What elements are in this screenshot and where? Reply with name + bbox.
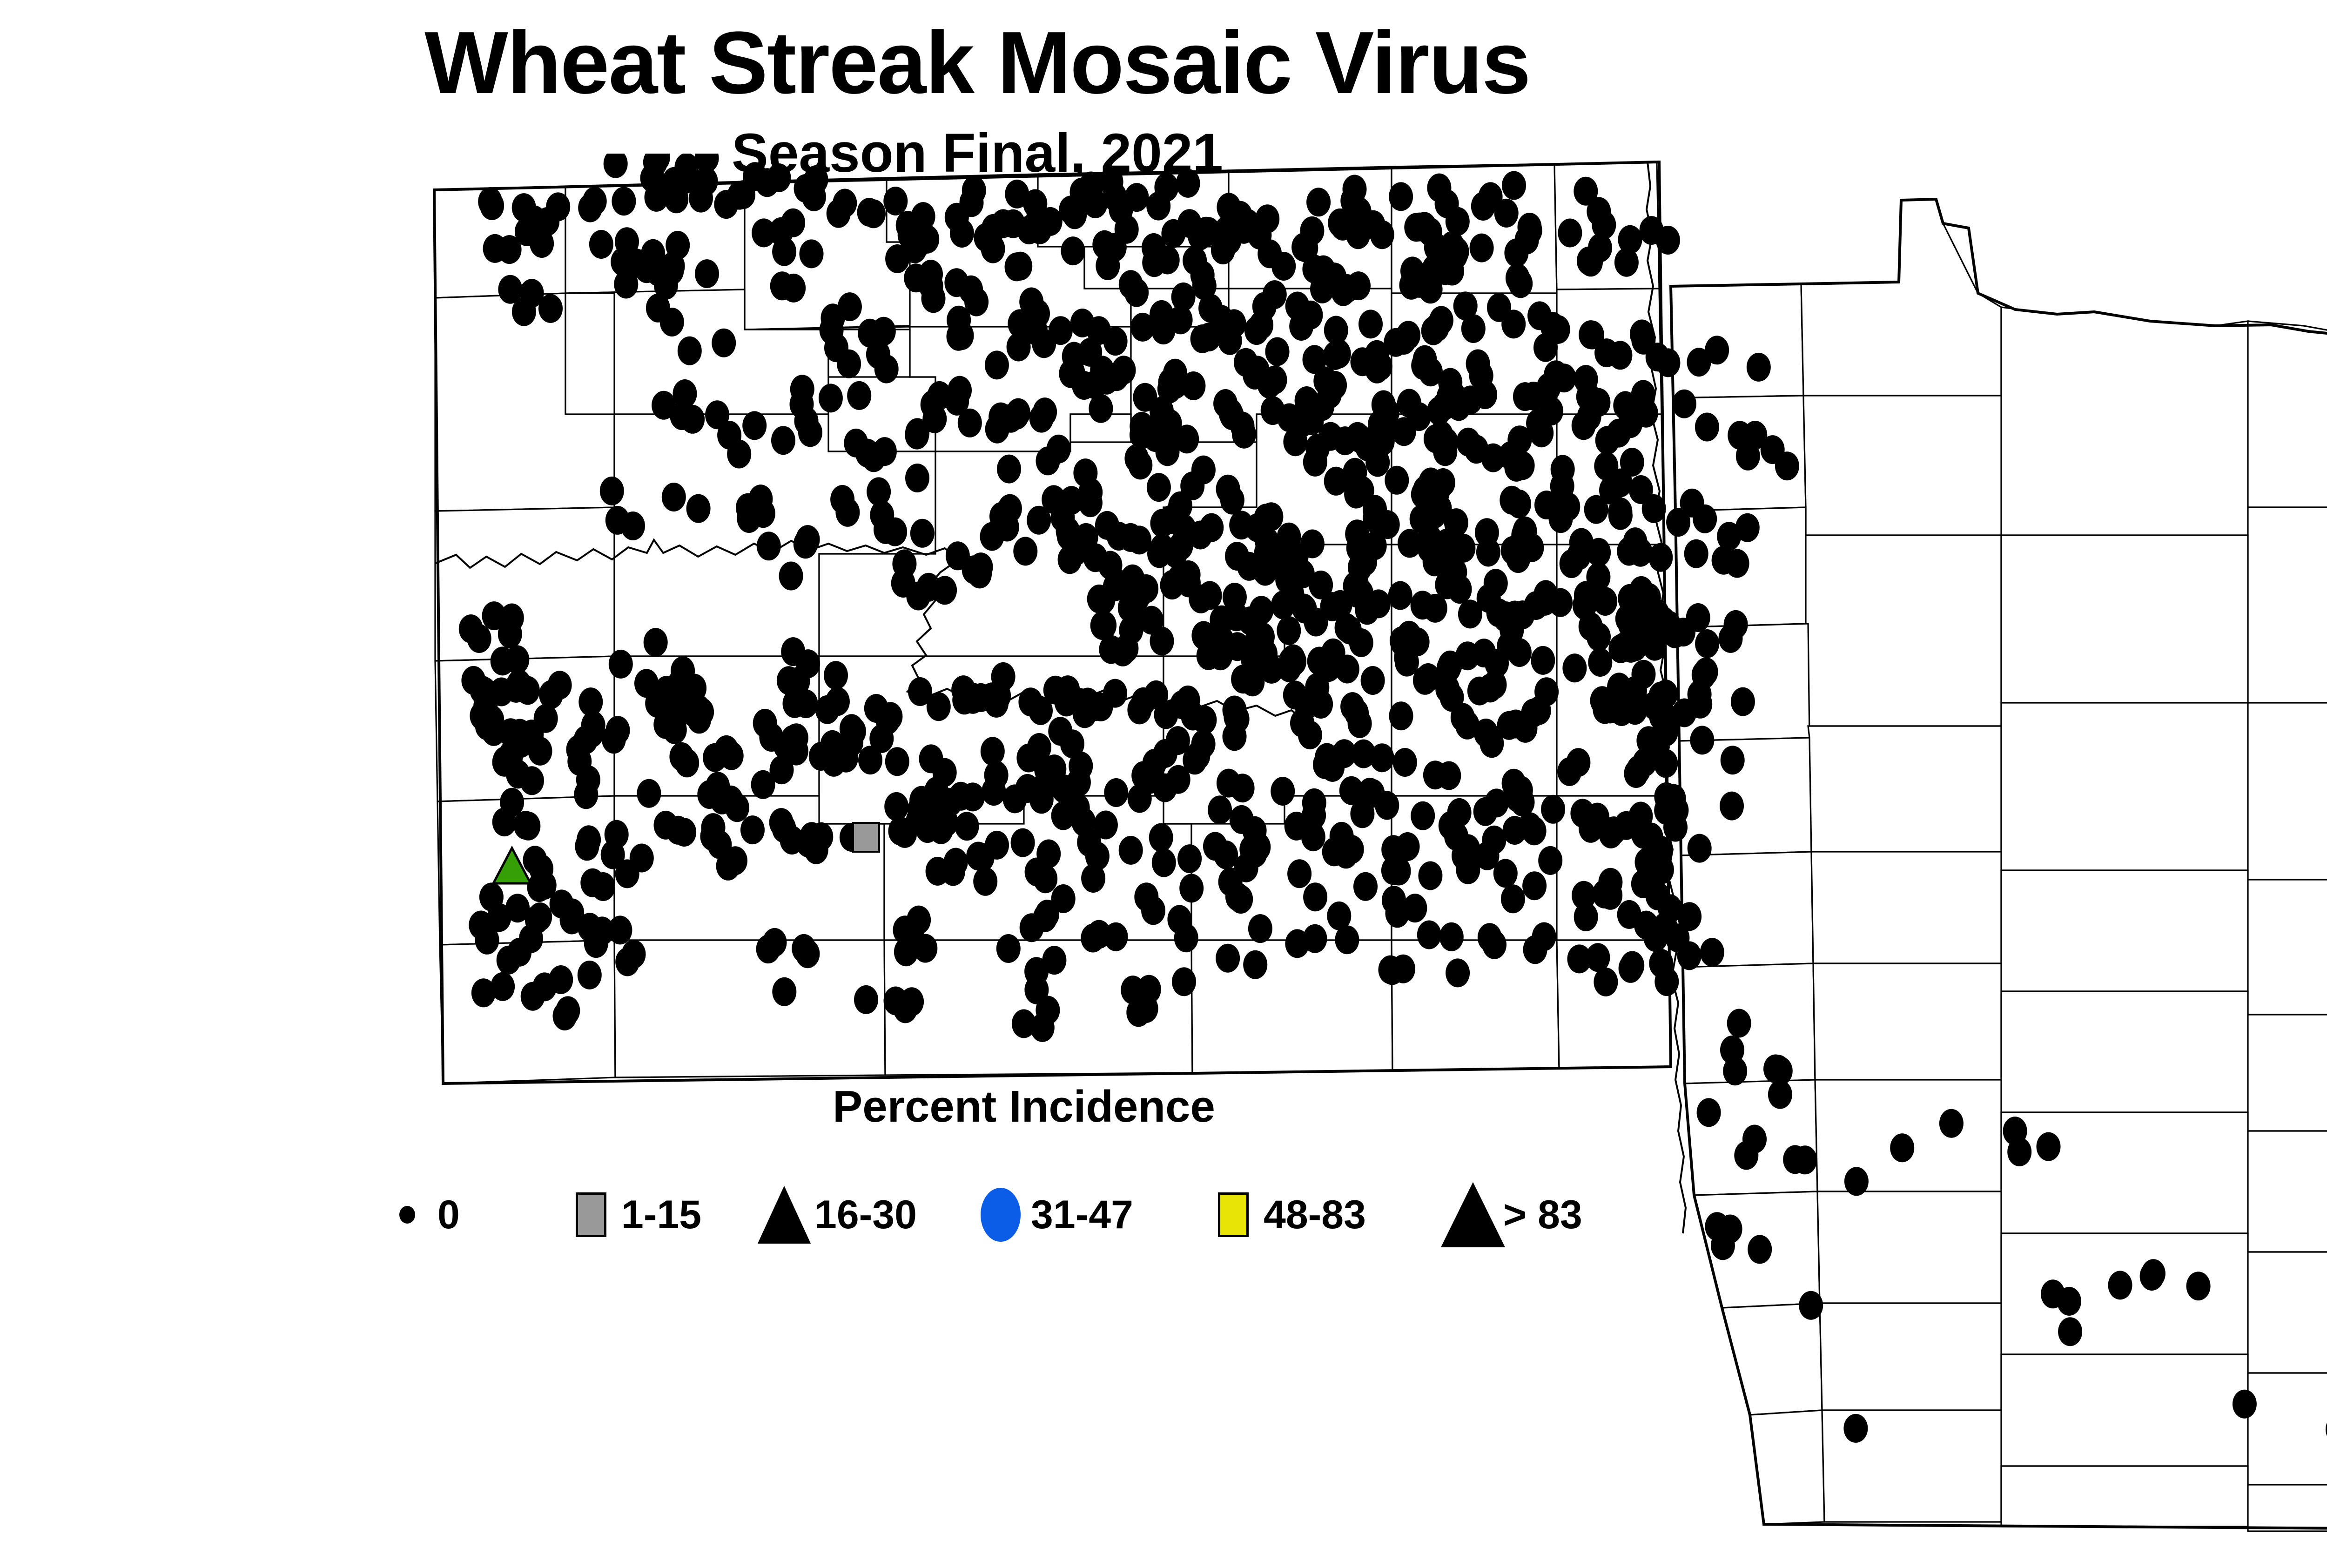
sample-point <box>1720 1036 1744 1064</box>
sample-point <box>523 846 547 875</box>
legend-symbol-square-icon <box>1208 1178 1259 1252</box>
sample-point <box>1427 174 1451 202</box>
sample-point <box>1705 336 1729 364</box>
sample-point <box>1370 743 1394 772</box>
point-gray-square <box>853 823 879 852</box>
sample-point <box>1592 880 1616 908</box>
sample-point <box>666 231 690 260</box>
sample-point <box>549 965 573 994</box>
sample-point <box>847 381 871 410</box>
sample-point <box>1156 437 1180 466</box>
sample-point <box>2186 1272 2211 1300</box>
sample-point <box>933 576 957 605</box>
sample-point <box>580 868 605 897</box>
sample-point <box>1574 581 1598 610</box>
sample-point <box>1487 293 1511 322</box>
legend-swatch <box>399 1206 415 1224</box>
sample-point <box>1389 182 1413 211</box>
sample-point <box>1624 759 1648 788</box>
sample-point <box>1480 729 1504 758</box>
sample-point <box>830 485 854 514</box>
sample-point <box>1351 347 1375 376</box>
sample-point <box>1539 397 1563 425</box>
legend-item--83[interactable]: > 83 <box>1447 1168 1582 1261</box>
sample-point <box>1208 795 1232 824</box>
sample-point <box>1608 341 1632 370</box>
sample-point <box>752 218 776 247</box>
sample-point <box>1259 655 1284 684</box>
sample-point <box>1081 924 1105 953</box>
sample-point <box>1197 323 1221 351</box>
sample-point <box>487 903 511 932</box>
sample-point <box>962 176 986 205</box>
sample-point <box>892 549 916 578</box>
sample-point <box>804 835 828 864</box>
sample-point <box>783 689 807 718</box>
sample-point <box>1686 603 1710 632</box>
sample-point <box>858 746 882 774</box>
sample-point <box>1361 666 1385 695</box>
sample-point <box>578 961 602 989</box>
sample-point <box>838 292 862 321</box>
sample-point <box>1458 599 1482 628</box>
sample-point <box>1731 687 1755 716</box>
sample-point <box>1345 519 1369 548</box>
sample-point <box>1094 811 1118 840</box>
sample-point <box>584 929 608 958</box>
sample-point <box>1188 222 1212 250</box>
sample-point <box>1470 234 1494 262</box>
sample-point <box>1411 801 1435 830</box>
sample-point <box>1330 822 1354 851</box>
sample-point <box>520 766 544 795</box>
sample-point <box>1688 690 1712 719</box>
sample-point <box>794 530 818 559</box>
sample-point <box>905 464 929 492</box>
legend-symbol-square-icon <box>565 1178 617 1252</box>
sample-point <box>1620 951 1644 980</box>
legend-item-0[interactable]: 0 <box>382 1168 460 1261</box>
sample-point <box>516 812 540 841</box>
sample-point <box>1154 700 1178 729</box>
sample-point <box>927 692 951 721</box>
sample-point <box>2233 1390 2257 1419</box>
sample-point <box>1199 513 1224 542</box>
sample-point <box>1700 938 1724 967</box>
sample-point <box>883 187 908 215</box>
sample-point <box>1532 922 1556 951</box>
sample-point <box>1248 914 1272 943</box>
sample-point <box>1566 748 1590 777</box>
legend-label: > 83 <box>1503 1192 1582 1238</box>
sample-point <box>1183 746 1207 774</box>
sample-point <box>600 477 624 505</box>
sample-point <box>527 873 551 902</box>
sample-point <box>1172 514 1196 543</box>
sample-point <box>1372 390 1396 419</box>
sample-point <box>742 411 767 440</box>
sample-point <box>970 843 995 872</box>
sample-point <box>772 814 796 843</box>
sample-point <box>1478 923 1502 952</box>
sample-point <box>1243 950 1267 979</box>
sample-point <box>1618 584 1642 613</box>
sample-point <box>1593 695 1617 724</box>
sample-point <box>1500 616 1524 645</box>
sample-point <box>1657 611 1681 639</box>
sample-point <box>1521 699 1545 727</box>
sample-point <box>1149 823 1173 852</box>
sample-point <box>906 582 930 611</box>
sample-point <box>1586 943 1610 972</box>
sample-point <box>1161 219 1185 248</box>
sample-point <box>673 379 697 408</box>
legend-swatch <box>1218 1192 1249 1237</box>
sample-point <box>471 978 496 1007</box>
sample-point <box>781 209 805 237</box>
sample-point <box>1634 911 1658 940</box>
sample-point <box>1048 717 1072 746</box>
sample-point <box>1176 169 1200 198</box>
sample-point <box>1507 490 1531 518</box>
sample-point <box>630 844 654 873</box>
sample-point <box>1300 530 1325 559</box>
sample-point <box>1385 466 1409 495</box>
legend-item-31-47[interactable]: 31-47 <box>975 1168 1133 1261</box>
sample-point <box>1890 1133 1914 1162</box>
sample-point <box>1147 473 1171 502</box>
sample-point <box>1335 655 1359 684</box>
sample-point <box>1225 705 1250 734</box>
sample-point <box>1005 252 1029 281</box>
sample-point <box>1156 246 1180 275</box>
sample-point <box>1003 784 1027 813</box>
sample-point <box>1287 859 1311 888</box>
legend-items: 01-1516-3031-4748-83> 83 <box>0 1168 2048 1261</box>
sample-point <box>949 782 973 811</box>
sample-point <box>1618 225 1642 254</box>
sample-point <box>1328 209 1352 237</box>
county-map-svg <box>0 154 2327 1568</box>
legend-swatch <box>1442 1184 1504 1245</box>
sample-point <box>1475 841 1500 870</box>
sample-point <box>1630 320 1654 349</box>
sample-point <box>480 705 504 734</box>
sample-point <box>1680 489 1704 518</box>
sample-point <box>712 329 736 357</box>
sample-point <box>1323 341 1347 370</box>
sample-point <box>1283 680 1307 709</box>
sample-point <box>1023 189 1047 218</box>
sample-point <box>1231 774 1255 802</box>
sample-point <box>1169 305 1193 334</box>
sample-point <box>1124 579 1149 607</box>
sample-point <box>1277 616 1301 645</box>
sample-point <box>521 982 545 1011</box>
sample-point <box>1388 581 1412 610</box>
sample-point <box>1455 711 1480 740</box>
sample-point <box>1179 874 1204 902</box>
sample-point <box>1059 195 1083 224</box>
sample-point <box>1727 1009 1751 1038</box>
sample-point <box>952 686 976 714</box>
sample-point <box>1231 215 1256 244</box>
sample-point <box>996 934 1021 963</box>
sample-point <box>498 275 522 304</box>
sample-point <box>1271 591 1295 619</box>
sample-point <box>695 259 719 288</box>
sample-point <box>1089 394 1113 423</box>
sample-point <box>701 813 726 842</box>
sample-point <box>1304 608 1328 637</box>
sample-point <box>1549 504 1573 533</box>
sample-point <box>1172 967 1196 996</box>
sample-point <box>1025 858 1049 887</box>
sample-point <box>1552 363 1576 392</box>
sample-point <box>1719 624 1743 653</box>
sample-point <box>1456 428 1480 457</box>
sample-point <box>694 167 718 196</box>
sample-point <box>1407 269 1432 298</box>
sample-point <box>1261 396 1285 425</box>
sample-point <box>1439 922 1464 951</box>
sample-point <box>1111 638 1135 666</box>
sample-point <box>767 163 791 192</box>
sample-point <box>1455 641 1480 670</box>
sample-point <box>1255 527 1279 556</box>
sample-point <box>1397 621 1421 650</box>
sample-point <box>780 725 805 754</box>
sample-point <box>483 234 507 263</box>
sample-point <box>1335 925 1359 954</box>
sample-point <box>1684 539 1708 568</box>
sample-point <box>987 681 1011 710</box>
sample-point <box>1522 871 1547 900</box>
sample-point <box>1300 216 1324 245</box>
sample-point <box>1091 585 1116 614</box>
sample-point <box>1265 337 1290 366</box>
sample-point <box>989 502 1014 531</box>
sample-point <box>1574 902 1598 931</box>
legend-title: Percent Incidence <box>0 1084 2048 1129</box>
sample-point <box>1107 522 1131 551</box>
sample-point <box>757 532 781 560</box>
sample-point <box>605 820 629 849</box>
sample-point <box>645 183 669 212</box>
sample-point <box>1275 565 1299 594</box>
sample-point <box>637 779 661 808</box>
sample-point <box>1736 442 1760 471</box>
sample-point <box>1506 544 1530 573</box>
sample-point <box>1649 949 1673 978</box>
sample-point <box>1471 192 1495 221</box>
sample-point <box>981 235 1005 263</box>
sample-point <box>516 676 540 705</box>
sample-point <box>926 857 950 886</box>
sample-point <box>528 902 552 931</box>
sample-point <box>1027 506 1051 535</box>
sample-point <box>1448 575 1472 604</box>
sample-point <box>1438 536 1462 565</box>
sample-point <box>1305 673 1329 702</box>
sample-point <box>1103 679 1127 708</box>
sample-point <box>1511 451 1535 480</box>
sample-point <box>528 737 552 766</box>
sample-point <box>1154 173 1178 202</box>
sample-point <box>1799 1291 1823 1320</box>
sample-point <box>1407 213 1432 242</box>
sample-point <box>751 770 775 799</box>
sample-point <box>1393 748 1417 777</box>
sample-point <box>1654 749 1678 778</box>
sample-point <box>1213 389 1237 418</box>
sample-point <box>1632 660 1656 689</box>
sample-point <box>1677 941 1702 970</box>
sample-point <box>1445 237 1469 266</box>
sample-point <box>605 506 630 535</box>
legend-symbol-triangle-icon <box>1447 1178 1499 1252</box>
sample-point <box>1130 313 1155 342</box>
legend-symbol-circle-small-icon <box>382 1178 433 1252</box>
sample-point <box>885 747 909 776</box>
sample-point <box>520 279 544 308</box>
sample-point <box>878 702 902 731</box>
sample-point <box>1255 204 1279 233</box>
sample-point <box>1608 501 1633 530</box>
sample-point <box>1303 924 1327 953</box>
sample-point <box>686 494 711 523</box>
sample-point <box>1677 902 1702 931</box>
sample-point <box>560 906 584 935</box>
sample-point <box>1672 390 1696 418</box>
sample-point <box>1594 452 1618 481</box>
sample-point <box>1138 765 1163 794</box>
sample-point <box>1353 872 1378 901</box>
sample-point <box>1290 409 1314 437</box>
sample-point <box>2058 1317 2082 1346</box>
sample-point <box>915 225 939 254</box>
sample-point <box>1411 351 1435 380</box>
sample-point <box>1484 569 1508 598</box>
sample-point <box>1502 769 1526 798</box>
sample-point <box>1104 778 1128 807</box>
sample-point <box>804 165 828 194</box>
sample-point <box>1222 309 1246 338</box>
sample-point <box>824 661 848 690</box>
sample-point <box>1648 543 1673 572</box>
sample-point <box>948 376 972 405</box>
sample-point <box>1257 370 1281 398</box>
sample-point <box>1058 545 1082 574</box>
sample-point <box>1588 648 1612 677</box>
sample-point <box>1656 226 1680 255</box>
sample-point <box>1013 537 1037 565</box>
sample-point <box>612 187 636 215</box>
sample-point <box>1074 523 1098 552</box>
sample-point <box>1522 816 1547 845</box>
sample-point <box>1642 494 1666 523</box>
sample-point <box>1017 215 1041 244</box>
sample-point <box>1735 513 1760 542</box>
sample-point <box>1541 795 1565 824</box>
legend-label: 0 <box>437 1192 460 1238</box>
sample-point <box>1569 528 1594 557</box>
sample-point <box>1174 923 1198 952</box>
sample-point <box>1411 591 1435 619</box>
sample-point <box>678 336 702 365</box>
sample-point <box>1216 944 1240 973</box>
sample-point <box>1309 571 1333 599</box>
sample-point <box>1607 419 1631 448</box>
sample-point <box>884 987 908 1016</box>
sample-point <box>1225 542 1249 571</box>
sample-point <box>2141 1259 2166 1288</box>
sample-point <box>575 832 599 861</box>
sample-point <box>1421 316 1446 345</box>
sample-point <box>1418 861 1442 890</box>
sample-point <box>921 390 945 419</box>
sample-point <box>478 187 502 216</box>
sample-point <box>1332 739 1356 768</box>
sample-point <box>1360 779 1385 808</box>
sample-point <box>771 426 795 455</box>
sample-point <box>1340 692 1365 721</box>
sample-point <box>1134 994 1158 1023</box>
sample-point <box>515 217 539 246</box>
sample-point <box>1843 1414 1868 1443</box>
legend-item-1-15[interactable]: 1-15 <box>565 1168 701 1261</box>
sample-point <box>1502 171 1526 200</box>
sample-point <box>1506 263 1530 292</box>
sample-point <box>576 765 600 794</box>
sample-point <box>1433 437 1457 466</box>
sample-point <box>589 230 613 259</box>
sample-point <box>1461 314 1486 343</box>
sample-point <box>874 355 899 384</box>
sample-point <box>945 203 969 232</box>
sample-point <box>1012 1009 1036 1038</box>
sample-point <box>608 915 632 944</box>
sample-point <box>1501 884 1525 913</box>
legend-label: 1-15 <box>621 1192 701 1238</box>
sample-point <box>609 650 633 679</box>
sample-point <box>1775 451 1799 480</box>
sample-point <box>1366 589 1391 618</box>
sample-point <box>1216 475 1240 504</box>
sample-point <box>1005 401 1029 430</box>
sample-point <box>1387 857 1411 886</box>
sample-point <box>653 710 678 739</box>
map-canvas <box>0 154 2327 1568</box>
sample-point <box>2057 1287 2081 1316</box>
sample-point <box>1518 216 1542 245</box>
legend-item-48-83[interactable]: 48-83 <box>1208 1168 1366 1261</box>
legend-item-16-30[interactable]: 16-30 <box>759 1168 917 1261</box>
sample-point <box>1634 399 1658 428</box>
sample-point <box>861 443 886 472</box>
sample-point <box>819 384 843 412</box>
sample-point <box>1119 270 1143 299</box>
sample-point <box>1747 353 1771 382</box>
sample-point <box>1049 316 1073 345</box>
sample-point <box>1695 413 1719 442</box>
sample-point <box>770 271 794 300</box>
sample-point <box>826 687 850 716</box>
sample-point <box>894 937 918 966</box>
legend-swatch <box>981 1188 1021 1242</box>
sample-point <box>1338 616 1362 645</box>
sample-point <box>1392 326 1416 355</box>
